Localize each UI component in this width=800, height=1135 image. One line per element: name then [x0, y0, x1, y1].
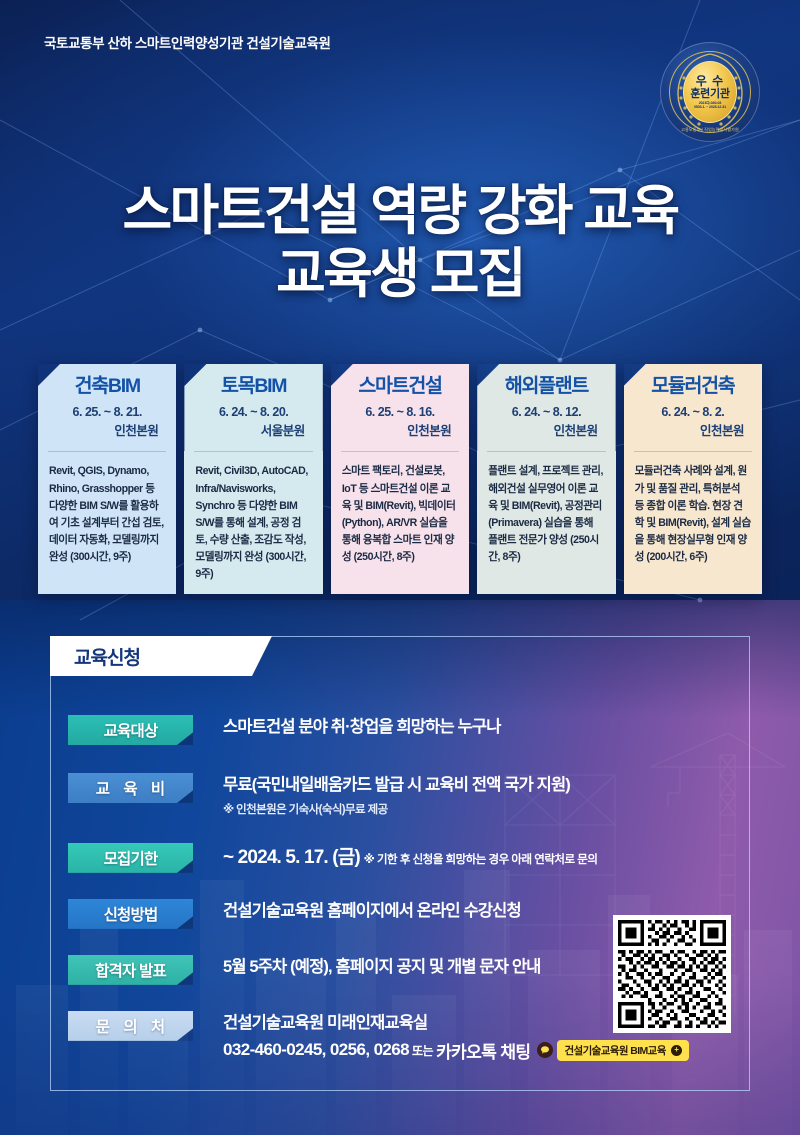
course-card-overseas-plant[interactable]: 해외플랜트 6. 24. ~ 8. 12. 인천본원 플랜트 설계, 프로젝트 …: [477, 364, 615, 594]
seal-arc-text: 고용노동부 | 직업능력심사평가원: [660, 127, 760, 133]
course-date: 6. 24. ~ 8. 12.: [489, 404, 603, 421]
row-label-text: 문 의 처: [91, 1015, 169, 1037]
course-card-body: 스마트 팩토리, 건설로봇, IoT 등 스마트건설 이론 교육 및 BIM(R…: [331, 451, 469, 594]
contact-phone-line: 032-460-0245, 0256, 0268 또는 카카오톡 채팅 건설기술…: [223, 1038, 749, 1063]
qr-code[interactable]: [613, 915, 731, 1033]
row-target-audience: 교육대상 스마트건설 분야 취·창업을 희망하는 누구나: [51, 715, 749, 745]
course-name: 해외플랜트: [489, 377, 603, 397]
kakao-channel-badge[interactable]: 건설기술교육원 BIM교육 +: [537, 1040, 688, 1061]
row-label-text: 교 육 비: [91, 777, 169, 799]
contact-kakao-text: 카카오톡 채팅: [436, 1038, 530, 1063]
course-card-header: 건축BIM 6. 25. ~ 8. 21. 인천본원: [38, 364, 176, 451]
row-label-target-audience: 교육대상: [68, 715, 193, 745]
row-label-contact: 문 의 처: [68, 1011, 193, 1041]
course-name: 건축BIM: [50, 377, 164, 397]
course-location: 인천본원: [636, 420, 750, 439]
row-label-text: 교육대상: [104, 719, 158, 741]
course-card-architecture-bim[interactable]: 건축BIM 6. 25. ~ 8. 21. 인천본원 Revit, QGIS, …: [38, 364, 176, 594]
contact-or-text: 또는: [412, 1042, 433, 1059]
row-label-results-announcement: 합격자 발표: [68, 955, 193, 985]
kakao-channel-pill[interactable]: 건설기술교육원 BIM교육 +: [557, 1040, 688, 1061]
organization-kicker: 국토교통부 산하 스마트인력양성기관 건설기술교육원: [44, 32, 331, 52]
row-tuition-fee: 교 육 비 무료(국민내일배움카드 발급 시 교육비 전액 국가 지원) ※ 인…: [51, 773, 749, 817]
seal-code-2: 0503.1. ~ 2026.12.31: [694, 106, 726, 110]
course-date: 6. 25. ~ 8. 21.: [50, 404, 164, 421]
row-label-application-deadline: 모집기한: [68, 843, 193, 873]
course-location: 인천본원: [489, 420, 603, 439]
kakao-channel-name: 건설기술교육원 BIM교육: [564, 1043, 665, 1058]
course-date: 6. 25. ~ 8. 16.: [343, 404, 457, 421]
course-card-smart-construction[interactable]: 스마트건설 6. 25. ~ 8. 16. 인천본원 스마트 팩토리, 건설로봇…: [331, 364, 469, 594]
qr-code-glyph: [618, 920, 726, 1028]
course-cards: 건축BIM 6. 25. ~ 8. 21. 인천본원 Revit, QGIS, …: [38, 364, 762, 594]
course-name: 모듈러건축: [636, 377, 750, 397]
course-date: 6. 24. ~ 8. 2.: [636, 404, 750, 421]
row-label-text: 신청방법: [104, 903, 158, 925]
course-name: 스마트건설: [343, 377, 457, 397]
course-card-body: Revit, QGIS, Dynamo, Rhino, Grasshopper …: [38, 451, 176, 594]
row-label-tuition-fee: 교 육 비: [68, 773, 193, 803]
row-value-wrap: 스마트건설 분야 취·창업을 희망하는 누구나: [193, 715, 749, 740]
course-card-header: 스마트건설 6. 25. ~ 8. 16. 인천본원: [331, 364, 469, 451]
poster-title: 스마트건설 역량 강화 교육 교육생 모집: [0, 180, 800, 305]
application-panel: 교육신청 교육대상 스마트건설 분야 취·창업을 희망하는 누구나 교 육 비 …: [50, 636, 750, 1091]
row-application-deadline: 모집기한 ~ 2024. 5. 17. (금) ※ 기한 후 신청을 희망하는 …: [51, 843, 749, 873]
course-card-header: 해외플랜트 6. 24. ~ 8. 12. 인천본원: [477, 364, 615, 451]
row-value-wrap: ~ 2024. 5. 17. (금) ※ 기한 후 신청을 희망하는 경우 아래…: [193, 843, 749, 872]
course-card-modular-construction[interactable]: 모듈러건축 6. 24. ~ 8. 2. 인천본원 모듈러건축 사례와 설계, …: [624, 364, 762, 594]
deadline-note: ※ 기한 후 신청을 희망하는 경우 아래 연락처로 문의: [364, 854, 598, 866]
title-line-1: 스마트건설 역량 강화 교육: [122, 181, 677, 241]
row-label-text: 합격자 발표: [95, 959, 166, 981]
course-location: 인천본원: [50, 420, 164, 439]
course-location: 인천본원: [343, 420, 457, 439]
title-line-2: 교육생 모집: [0, 243, 800, 306]
contact-phone-numbers: 032-460-0245, 0256, 0268: [223, 1040, 409, 1060]
course-card-body: 모듈러건축 사례와 설계, 원가 및 품질 관리, 특허분석 등 종합 이론 학…: [624, 451, 762, 594]
row-label-application-method: 신청방법: [68, 899, 193, 929]
course-card-body: Revit, Civil3D, AutoCAD, Infra/Naviswork…: [184, 451, 322, 594]
course-description: Revit, Civil3D, AutoCAD, Infra/Naviswork…: [195, 463, 311, 583]
course-name: 토목BIM: [196, 377, 310, 397]
row-value-text: 무료(국민내일배움카드 발급 시 교육비 전액 국가 지원): [223, 774, 749, 798]
course-description: 플랜트 설계, 프로젝트 관리, 해외건설 실무영어 이론 교육 및 BIM(R…: [488, 463, 604, 566]
course-card-civil-bim[interactable]: 토목BIM 6. 24. ~ 8. 20. 서울분원 Revit, Civil3…: [184, 364, 322, 594]
row-value-wrap: 무료(국민내일배움카드 발급 시 교육비 전액 국가 지원) ※ 인천본원은 기…: [193, 773, 749, 817]
row-note-text: ※ 인천본원은 기숙사(숙식)무료 제공: [223, 801, 749, 817]
kakao-plus-icon: +: [671, 1045, 682, 1056]
course-description: 스마트 팩토리, 건설로봇, IoT 등 스마트건설 이론 교육 및 BIM(R…: [342, 463, 458, 566]
kakao-bubble-glyph: [540, 1045, 550, 1055]
application-panel-title: 교육신청: [50, 643, 140, 670]
course-location: 서울분원: [196, 420, 310, 439]
course-card-body: 플랜트 설계, 프로젝트 관리, 해외건설 실무영어 이론 교육 및 BIM(R…: [477, 451, 615, 594]
deadline-date: ~ 2024. 5. 17. (금): [223, 847, 360, 868]
course-date: 6. 24. ~ 8. 20.: [196, 404, 310, 421]
course-card-header: 모듈러건축 6. 24. ~ 8. 2. 인천본원: [624, 364, 762, 451]
header-kicker-wrap: 국토교통부 산하 스마트인력양성기관 건설기술교육원: [44, 32, 331, 52]
row-value-line: ~ 2024. 5. 17. (금) ※ 기한 후 신청을 희망하는 경우 아래…: [223, 844, 749, 872]
seal-center-plate: 우 수 훈련기관 2021다-040-03 0503.1. ~ 2026.12.…: [683, 61, 737, 123]
course-description: Revit, QGIS, Dynamo, Rhino, Grasshopper …: [49, 463, 165, 566]
course-card-header: 토목BIM 6. 24. ~ 8. 20. 서울분원: [184, 364, 322, 451]
row-value-text: 스마트건설 분야 취·창업을 희망하는 누구나: [223, 716, 749, 740]
kakaotalk-icon: [537, 1042, 553, 1058]
course-description: 모듈러건축 사례와 설계, 원가 및 품질 관리, 특허분석 등 종합 이론 학…: [635, 463, 751, 566]
qr-code-wrap[interactable]: [613, 915, 731, 1033]
excellent-training-institution-seal: 우 수 훈련기관 2021다-040-03 0503.1. ~ 2026.12.…: [660, 42, 760, 142]
seal-line-1: 우 수: [696, 75, 724, 87]
seal-line-2: 훈련기관: [690, 89, 729, 100]
application-panel-tab: 교육신청: [50, 636, 272, 676]
row-label-text: 모집기한: [104, 847, 158, 869]
